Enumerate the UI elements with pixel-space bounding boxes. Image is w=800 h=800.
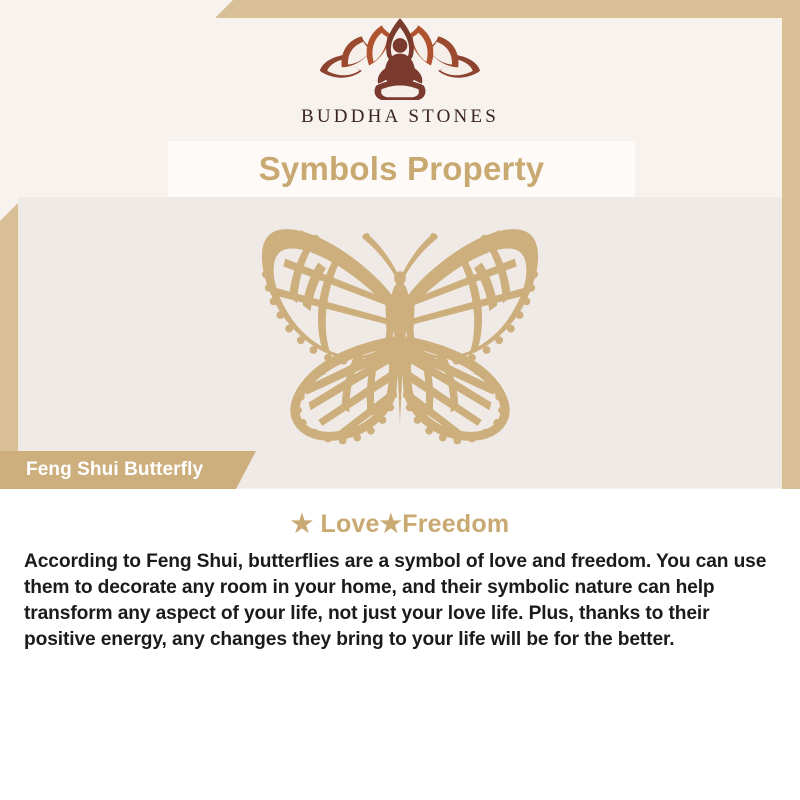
poster-canvas: BUDDHA STONES Symbols Property <box>0 0 800 800</box>
page-title-bar: Symbols Property <box>168 141 635 197</box>
butterfly-icon <box>225 211 575 456</box>
content-card-filler <box>0 694 800 800</box>
content-paragraph: According to Feng Shui, butterflies are … <box>0 539 800 653</box>
content-card: ★ Love★Freedom According to Feng Shui, b… <box>0 489 800 694</box>
brand-name: BUDDHA STONES <box>301 106 499 128</box>
brand-logo: BUDDHA STONES <box>0 0 800 140</box>
page-title: Symbols Property <box>259 150 545 188</box>
hero-image-area <box>18 197 782 488</box>
lotus-meditation-figure-icon <box>309 16 491 104</box>
content-subtitle: ★ Love★Freedom <box>0 489 800 539</box>
status-badge-feng-shui-butterfly: Feng Shui Butterfly <box>0 451 256 489</box>
status-badge-label: Feng Shui Butterfly <box>0 459 203 481</box>
